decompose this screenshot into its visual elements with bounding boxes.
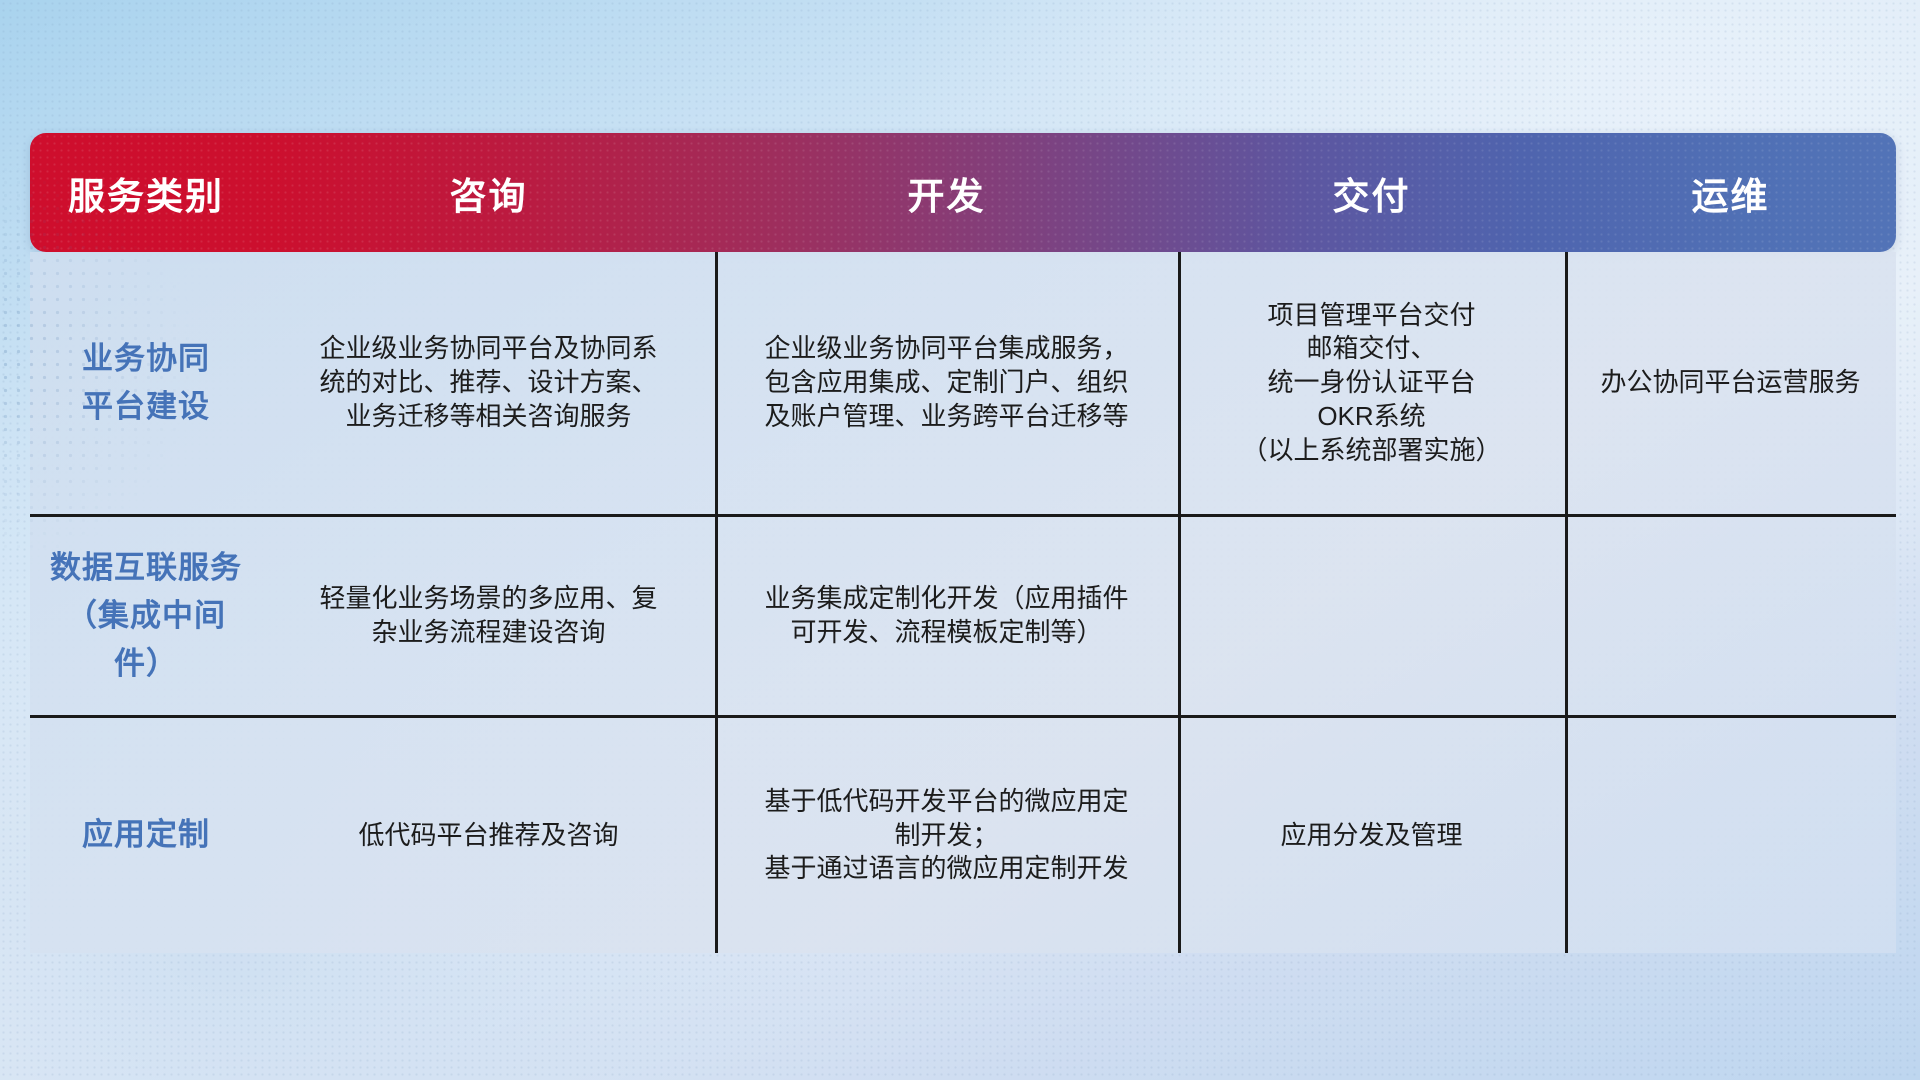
table-row: 数据互联服务 （集成中间件） 轻量化业务场景的多应用、复 杂业务流程建设咨询 业… [30,514,1896,715]
cell-delivery: 项目管理平台交付 邮箱交付、 统一身份认证平台 OKR系统 （以上系统部署实施） [1178,252,1565,514]
cell-operations [1565,718,1896,953]
cell-delivery: 应用分发及管理 [1178,718,1565,953]
header-label: 交付 [1333,166,1411,220]
table-header-operations: 运维 [1565,133,1896,252]
table-header-delivery: 交付 [1178,133,1565,252]
cell-development: 基于低代码开发平台的微应用定 制开发； 基于通过语言的微应用定制开发 [715,718,1178,953]
table-header-development: 开发 [715,133,1178,252]
slide-canvas: 服务类别 咨询 开发 交付 运维 业务协同 平台建设 企业级业务协同平台及协同系… [0,0,1920,1080]
row-category-label: 业务协同 平台建设 [30,252,262,514]
cell-consulting: 低代码平台推荐及咨询 [262,718,715,953]
table-row: 应用定制 低代码平台推荐及咨询 基于低代码开发平台的微应用定 制开发； 基于通过… [30,715,1896,953]
cell-operations [1565,517,1896,715]
row-category-label: 应用定制 [30,718,262,953]
cell-consulting: 企业级业务协同平台及协同系 统的对比、推荐、设计方案、 业务迁移等相关咨询服务 [262,252,715,514]
table-body: 业务协同 平台建设 企业级业务协同平台及协同系 统的对比、推荐、设计方案、 业务… [30,252,1896,953]
header-label: 运维 [1692,166,1770,220]
header-label: 服务类别 [68,166,224,220]
service-category-table: 服务类别 咨询 开发 交付 运维 业务协同 平台建设 企业级业务协同平台及协同系… [30,133,1896,953]
table-header-service-category: 服务类别 [30,133,262,252]
header-label: 咨询 [450,166,528,220]
table-row: 业务协同 平台建设 企业级业务协同平台及协同系 统的对比、推荐、设计方案、 业务… [30,252,1896,514]
cell-delivery [1178,517,1565,715]
cell-development: 企业级业务协同平台集成服务， 包含应用集成、定制门户、组织 及账户管理、业务跨平… [715,252,1178,514]
cell-consulting: 轻量化业务场景的多应用、复 杂业务流程建设咨询 [262,517,715,715]
table-header-row: 服务类别 咨询 开发 交付 运维 [30,133,1896,252]
table-header-consulting: 咨询 [262,133,715,252]
cell-operations: 办公协同平台运营服务 [1565,252,1896,514]
header-label: 开发 [908,166,986,220]
row-category-label: 数据互联服务 （集成中间件） [30,517,262,715]
cell-development: 业务集成定制化开发（应用插件 可开发、流程模板定制等） [715,517,1178,715]
